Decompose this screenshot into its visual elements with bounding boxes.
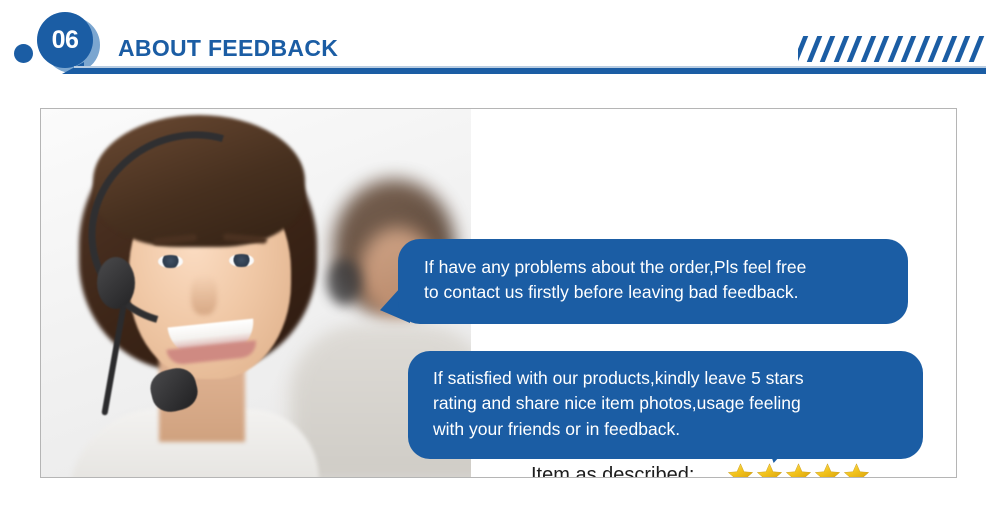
diagonal-stripes-decoration [798, 36, 986, 62]
page-header: 06 ABOUT FEEDBACK [0, 0, 1000, 92]
speech-bubble-2-line-3: with your friends or in feedback. [433, 417, 903, 442]
star-icon [756, 462, 783, 478]
speech-bubble-2: If satisfied with our products,kindly le… [408, 351, 923, 459]
speech-bubble-1-line-2: to contact us firstly before leaving bad… [424, 280, 886, 305]
rating-stars [727, 462, 870, 478]
speech-bubble-1-line-1: If have any problems about the order,Pls… [424, 255, 886, 280]
rating-list: Item as described: [531, 455, 951, 478]
page-title: ABOUT FEEDBACK [118, 35, 338, 62]
section-badge: 06 [37, 12, 93, 68]
rating-row-item-as-described: Item as described: [531, 455, 951, 478]
speech-bubble-1: If have any problems about the order,Pls… [398, 239, 908, 324]
headset-earcup-icon [97, 257, 135, 309]
section-number: 06 [52, 28, 79, 53]
star-icon [785, 462, 812, 478]
background-person-headset [327, 259, 361, 305]
speech-bubble-2-line-2: rating and share nice item photos,usage … [433, 391, 903, 416]
speech-bubble-2-line-1: If satisfied with our products,kindly le… [433, 366, 903, 391]
star-icon [814, 462, 841, 478]
header-accent-dot [14, 44, 33, 63]
star-icon [727, 462, 754, 478]
stripe-bar [967, 36, 986, 62]
feedback-panel: If have any problems about the order,Pls… [40, 108, 957, 478]
star-icon [843, 462, 870, 478]
header-rule-bar [74, 68, 986, 74]
rating-label: Item as described: [531, 464, 727, 478]
